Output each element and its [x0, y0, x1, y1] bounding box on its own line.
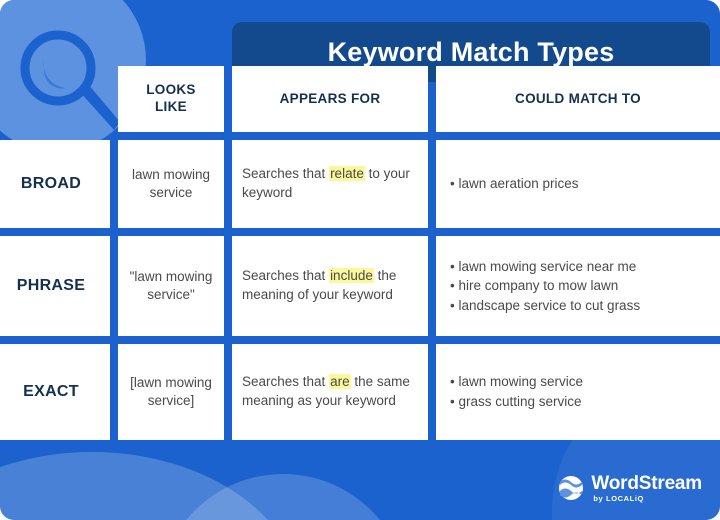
decorative-circle-bottom-left-large — [0, 452, 302, 520]
looks-like-text: "lawn mowing service" — [118, 268, 224, 304]
header-cell-could-match-to: COULD MATCH TO — [436, 66, 720, 132]
cell-looks-like-phrase: "lawn mowing service" — [118, 236, 224, 336]
cell-match-type-phrase: PHRASE — [0, 236, 110, 336]
appears-for-highlight: include — [329, 268, 374, 283]
wordstream-logo: WordStream by LOCALiQ — [558, 474, 702, 503]
logo-tagline: by LOCALiQ — [593, 495, 644, 503]
infographic-root: Keyword Match Types LOOKS LIKE APPEARS F… — [0, 0, 720, 520]
could-match-list: • lawn mowing service near me • hire com… — [436, 257, 654, 316]
appears-for-highlight: are — [329, 374, 351, 389]
appears-for-prefix: Searches that — [242, 166, 329, 181]
list-item: • lawn aeration prices — [450, 174, 579, 194]
appears-for-highlight: relate — [329, 166, 365, 181]
table-row: EXACT [lawn mowing service] Searches tha… — [0, 344, 720, 440]
match-type-label: PHRASE — [17, 277, 85, 295]
page-title-text: Keyword Match Types — [328, 37, 615, 68]
header-appears-for-label: APPEARS FOR — [232, 91, 428, 108]
could-match-list: • lawn aeration prices — [436, 174, 593, 194]
appears-for-text: Searches that relate to your keyword — [232, 165, 428, 203]
table-row: BROAD lawn mowing service Searches that … — [0, 140, 720, 228]
list-item: • hire company to mow lawn — [450, 276, 640, 296]
table-row: PHRASE "lawn mowing service" Searches th… — [0, 236, 720, 336]
cell-could-match-to-broad: • lawn aeration prices — [436, 140, 720, 228]
logo-wordmark: WordStream by LOCALiQ — [591, 474, 702, 503]
list-item: • lawn mowing service near me — [450, 257, 640, 277]
header-looks-like-line2: LIKE — [155, 99, 187, 114]
table-header-row: LOOKS LIKE APPEARS FOR COULD MATCH TO — [0, 66, 720, 132]
cell-match-type-broad: BROAD — [0, 140, 110, 228]
list-item: • lawn mowing service — [450, 372, 583, 392]
header-cell-looks-like: LOOKS LIKE — [118, 66, 224, 132]
appears-for-prefix: Searches that — [242, 374, 329, 389]
wordstream-wave-icon — [558, 475, 584, 501]
cell-appears-for-exact: Searches that are the same meaning as yo… — [232, 344, 428, 440]
header-cell-appears-for: APPEARS FOR — [232, 66, 428, 132]
header-looks-like-line1: LOOKS — [146, 82, 196, 97]
header-cell-match-type — [0, 66, 110, 132]
match-type-label: BROAD — [21, 175, 81, 193]
list-item: • grass cutting service — [450, 392, 583, 412]
header-looks-like-wrap: LOOKS LIKE — [146, 82, 196, 116]
cell-looks-like-broad: lawn mowing service — [118, 140, 224, 228]
header-could-match-to-label: COULD MATCH TO — [436, 91, 720, 108]
cell-could-match-to-phrase: • lawn mowing service near me • hire com… — [436, 236, 720, 336]
decorative-circle-bottom-left-small — [158, 474, 408, 520]
match-types-table: LOOKS LIKE APPEARS FOR COULD MATCH TO BR… — [0, 66, 720, 448]
looks-like-text: [lawn mowing service] — [118, 374, 224, 410]
looks-like-text: lawn mowing service — [118, 166, 224, 202]
cell-looks-like-exact: [lawn mowing service] — [118, 344, 224, 440]
appears-for-prefix: Searches that — [242, 268, 329, 283]
cell-appears-for-broad: Searches that relate to your keyword — [232, 140, 428, 228]
could-match-list: • lawn mowing service • grass cutting se… — [436, 372, 597, 411]
logo-name: WordStream — [591, 474, 702, 493]
match-type-label: EXACT — [23, 383, 79, 401]
cell-appears-for-phrase: Searches that include the meaning of you… — [232, 236, 428, 336]
cell-could-match-to-exact: • lawn mowing service • grass cutting se… — [436, 344, 720, 440]
cell-match-type-exact: EXACT — [0, 344, 110, 440]
list-item: • landscape service to cut grass — [450, 296, 640, 316]
appears-for-text: Searches that are the same meaning as yo… — [232, 373, 428, 411]
appears-for-text: Searches that include the meaning of you… — [232, 267, 428, 305]
